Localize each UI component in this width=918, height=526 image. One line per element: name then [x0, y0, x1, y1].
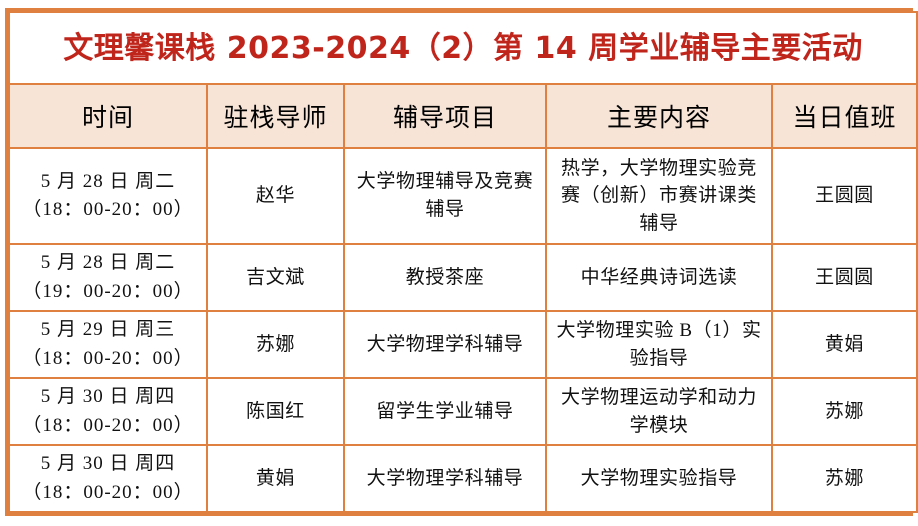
- cell-duty: 苏娜: [772, 445, 917, 512]
- cell-mentor: 吉文斌: [207, 244, 344, 311]
- page-title: 文理馨课栈 2023-2024（2）第 14 周学业辅导主要活动: [63, 31, 862, 66]
- cell-content: 大学物理实验 B（1）实验指导: [546, 311, 772, 378]
- cell-time-text: 5 月 29 日 周三 （18：00-20：00）: [22, 319, 193, 369]
- cell-mentor: 苏娜: [207, 311, 344, 378]
- cell-time-text: 5 月 30 日 周四 （18：00-20：00）: [22, 386, 193, 436]
- cell-content: 大学物理运动学和动力学模块: [546, 378, 772, 445]
- column-header-content: 主要内容: [546, 84, 772, 148]
- cell-mentor-text: 赵华: [256, 185, 295, 206]
- cell-mentor-text: 黄娟: [256, 468, 295, 489]
- cell-time: 5 月 28 日 周二 （18：00-20：00）: [9, 148, 207, 244]
- cell-project-text: 大学物理学科辅导: [367, 334, 524, 355]
- cell-time: 5 月 28 日 周二 （19：00-20：00）: [9, 244, 207, 311]
- cell-time: 5 月 30 日 周四 （18：00-20：00）: [9, 378, 207, 445]
- table-header-row: 时间 驻栈导师 辅导项目 主要内容 当日值班: [9, 84, 917, 148]
- column-header-label: 辅导项目: [393, 103, 497, 132]
- cell-project: 教授茶座: [344, 244, 546, 311]
- cell-time-text: 5 月 30 日 周四 （18：00-20：00）: [22, 453, 193, 503]
- cell-duty-text: 王圆圆: [815, 267, 874, 288]
- cell-project: 大学物理学科辅导: [344, 445, 546, 512]
- cell-project: 大学物理辅导及竞赛辅导: [344, 148, 546, 244]
- cell-mentor-text: 吉文斌: [246, 267, 305, 288]
- column-header-duty: 当日值班: [772, 84, 917, 148]
- cell-time: 5 月 30 日 周四 （18：00-20：00）: [9, 445, 207, 512]
- cell-duty: 王圆圆: [772, 148, 917, 244]
- cell-time-text: 5 月 28 日 周二 （19：00-20：00）: [22, 252, 193, 302]
- cell-content-text: 中华经典诗词选读: [581, 267, 738, 288]
- cell-duty-text: 黄娟: [825, 334, 864, 355]
- table-row: 5 月 30 日 周四 （18：00-20：00） 陈国红 留学生学业辅导 大学…: [9, 378, 917, 445]
- column-header-mentor: 驻栈导师: [207, 84, 344, 148]
- schedule-table-body: 文理馨课栈 2023-2024（2）第 14 周学业辅导主要活动 时间 驻栈导师…: [9, 12, 917, 512]
- cell-time: 5 月 29 日 周三 （18：00-20：00）: [9, 311, 207, 378]
- title-row: 文理馨课栈 2023-2024（2）第 14 周学业辅导主要活动: [9, 12, 917, 84]
- cell-project-text: 留学生学业辅导: [376, 401, 513, 422]
- table-row: 5 月 28 日 周二 （18：00-20：00） 赵华 大学物理辅导及竞赛辅导…: [9, 148, 917, 244]
- table-row: 5 月 29 日 周三 （18：00-20：00） 苏娜 大学物理学科辅导 大学…: [9, 311, 917, 378]
- cell-duty-text: 苏娜: [825, 401, 864, 422]
- cell-mentor: 陈国红: [207, 378, 344, 445]
- cell-content-text: 大学物理实验指导: [581, 468, 738, 489]
- cell-duty-text: 王圆圆: [815, 185, 874, 206]
- cell-project: 留学生学业辅导: [344, 378, 546, 445]
- column-header-time: 时间: [9, 84, 207, 148]
- cell-project-text: 大学物理学科辅导: [367, 468, 524, 489]
- cell-duty: 苏娜: [772, 378, 917, 445]
- cell-content-text: 大学物理实验 B（1）实验指导: [556, 320, 761, 369]
- cell-content-text: 大学物理运动学和动力学模块: [561, 387, 757, 436]
- column-header-project: 辅导项目: [344, 84, 546, 148]
- cell-mentor-text: 苏娜: [256, 334, 295, 355]
- column-header-label: 驻栈导师: [223, 103, 327, 132]
- cell-duty-text: 苏娜: [825, 468, 864, 489]
- table-row: 5 月 30 日 周四 （18：00-20：00） 黄娟 大学物理学科辅导 大学…: [9, 445, 917, 512]
- column-header-label: 当日值班: [793, 103, 897, 132]
- cell-duty: 黄娟: [772, 311, 917, 378]
- cell-content: 中华经典诗词选读: [546, 244, 772, 311]
- cell-time-text: 5 月 28 日 周二 （18：00-20：00）: [22, 171, 193, 221]
- cell-content: 热学，大学物理实验竞赛（创新）市赛讲课类辅导: [546, 148, 772, 244]
- cell-mentor: 黄娟: [207, 445, 344, 512]
- column-header-label: 主要内容: [607, 103, 711, 132]
- document-title-cell: 文理馨课栈 2023-2024（2）第 14 周学业辅导主要活动: [9, 12, 917, 84]
- cell-content: 大学物理实验指导: [546, 445, 772, 512]
- cell-mentor-text: 陈国红: [246, 401, 305, 422]
- cell-project-text: 教授茶座: [406, 267, 484, 288]
- cell-content-text: 热学，大学物理实验竞赛（创新）市赛讲课类辅导: [561, 158, 757, 234]
- schedule-sheet: 文理馨课栈 2023-2024（2）第 14 周学业辅导主要活动 时间 驻栈导师…: [5, 8, 913, 516]
- cell-mentor: 赵华: [207, 148, 344, 244]
- column-header-label: 时间: [82, 103, 134, 132]
- cell-duty: 王圆圆: [772, 244, 917, 311]
- schedule-table: 文理馨课栈 2023-2024（2）第 14 周学业辅导主要活动 时间 驻栈导师…: [8, 11, 918, 513]
- cell-project-text: 大学物理辅导及竞赛辅导: [357, 171, 533, 220]
- table-row: 5 月 28 日 周二 （19：00-20：00） 吉文斌 教授茶座 中华经典诗…: [9, 244, 917, 311]
- cell-project: 大学物理学科辅导: [344, 311, 546, 378]
